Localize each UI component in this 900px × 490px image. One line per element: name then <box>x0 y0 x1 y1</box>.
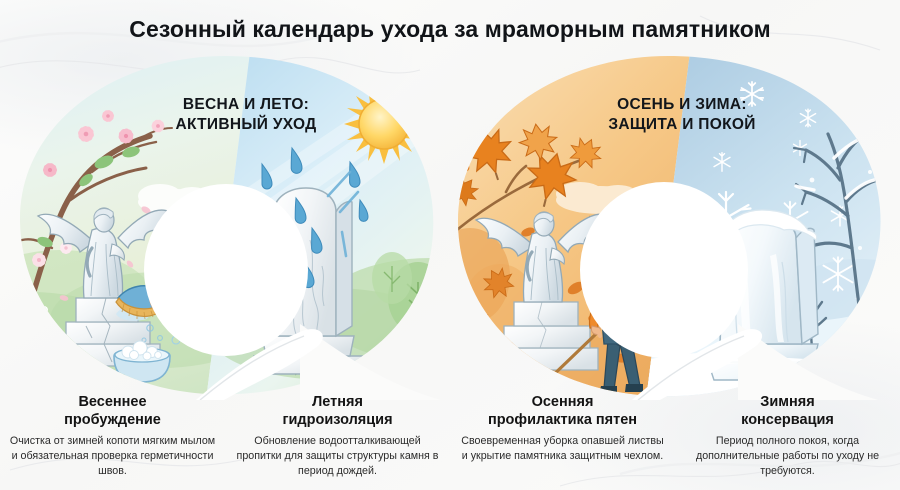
caption-autumn-body: Своевременная уборка опавшей листвы и ук… <box>458 434 667 464</box>
header-autumn-winter-line2: ЗАЩИТА И ПОКОЙ <box>578 115 786 135</box>
caption-spring-title-line1: Весеннее <box>8 394 217 412</box>
caption-winter: Зимняя консервация Период полного покоя,… <box>675 394 900 490</box>
caption-spring-title: Весеннее пробуждение <box>8 394 217 429</box>
caption-winter-body: Период полного покоя, когда дополнительн… <box>683 434 892 479</box>
caption-summer-title: Летняя гидроизоляция <box>233 394 442 429</box>
header-autumn-winter-line1: ОСЕНЬ И ЗИМА: <box>578 95 786 115</box>
center-cutout-right <box>580 182 748 358</box>
caption-spring-title-line2: пробуждение <box>8 412 217 430</box>
caption-autumn-title-line1: Осенняя <box>458 394 667 412</box>
header-spring-summer-line1: ВЕСНА И ЛЕТО: <box>148 95 344 115</box>
header-autumn-winter: ОСЕНЬ И ЗИМА: ЗАЩИТА И ПОКОЙ <box>578 95 786 135</box>
caption-summer-title-line2: гидроизоляция <box>233 412 442 430</box>
caption-winter-title-line2: консервация <box>683 412 892 430</box>
caption-winter-title-line1: Зимняя <box>683 394 892 412</box>
caption-spring-body: Очистка от зимней копоти мягким мылом и … <box>8 434 217 479</box>
caption-spring: Весеннее пробуждение Очистка от зимней к… <box>0 394 225 490</box>
center-cutout-left <box>144 184 308 356</box>
page-title: Сезонный календарь ухода за мраморным па… <box>0 16 900 43</box>
caption-summer-body: Обновление водоотталкивающей пропитки дл… <box>233 434 442 479</box>
caption-autumn: Осенняя профилактика пятен Своевременная… <box>450 394 675 490</box>
caption-summer: Летняя гидроизоляция Обновление водоотта… <box>225 394 450 490</box>
sun-icon <box>344 84 424 164</box>
caption-summer-title-line1: Летняя <box>233 394 442 412</box>
caption-autumn-title: Осенняя профилактика пятен <box>458 394 667 429</box>
caption-winter-title: Зимняя консервация <box>683 394 892 429</box>
caption-autumn-title-line2: профилактика пятен <box>458 412 667 430</box>
caption-row: Весеннее пробуждение Очистка от зимней к… <box>0 394 900 490</box>
header-spring-summer-line2: АКТИВНЫЙ УХОД <box>148 115 344 135</box>
header-spring-summer: ВЕСНА И ЛЕТО: АКТИВНЫЙ УХОД <box>148 95 344 135</box>
